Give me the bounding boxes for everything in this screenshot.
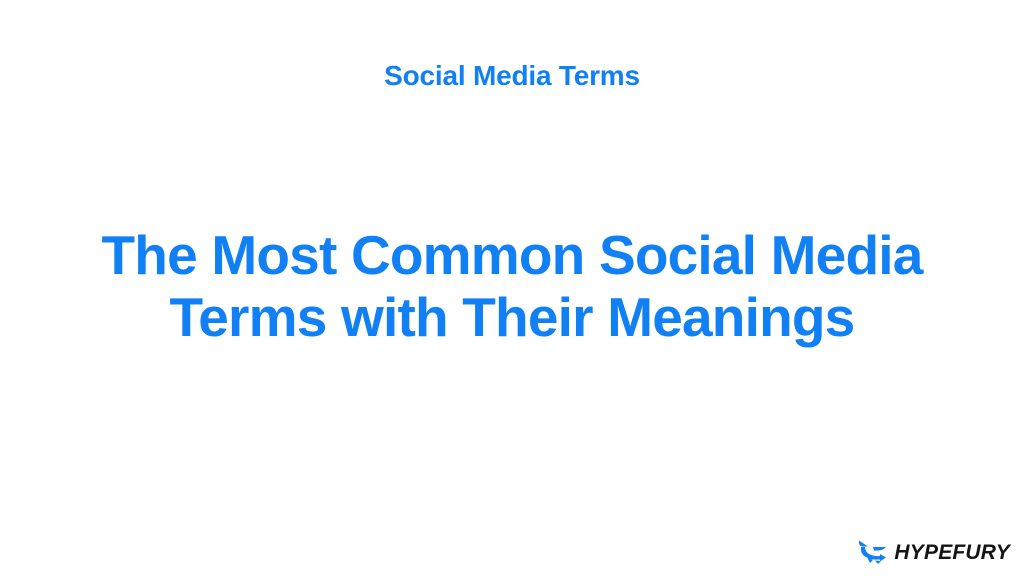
brand-logo: HYPEFURY	[858, 537, 1010, 567]
slide-eyebrow: Social Media Terms	[0, 56, 1024, 96]
bird-icon	[858, 539, 887, 565]
logo-wordmark: HYPEFURY	[894, 542, 1010, 563]
slide-headline: The Most Common Social Media Terms with …	[52, 224, 972, 348]
headline-line-1: The Most Common Social Media	[52, 224, 972, 286]
slide-canvas: Social Media Terms The Most Common Socia…	[0, 0, 1024, 576]
headline-line-2: Terms with Their Meanings	[52, 286, 972, 348]
